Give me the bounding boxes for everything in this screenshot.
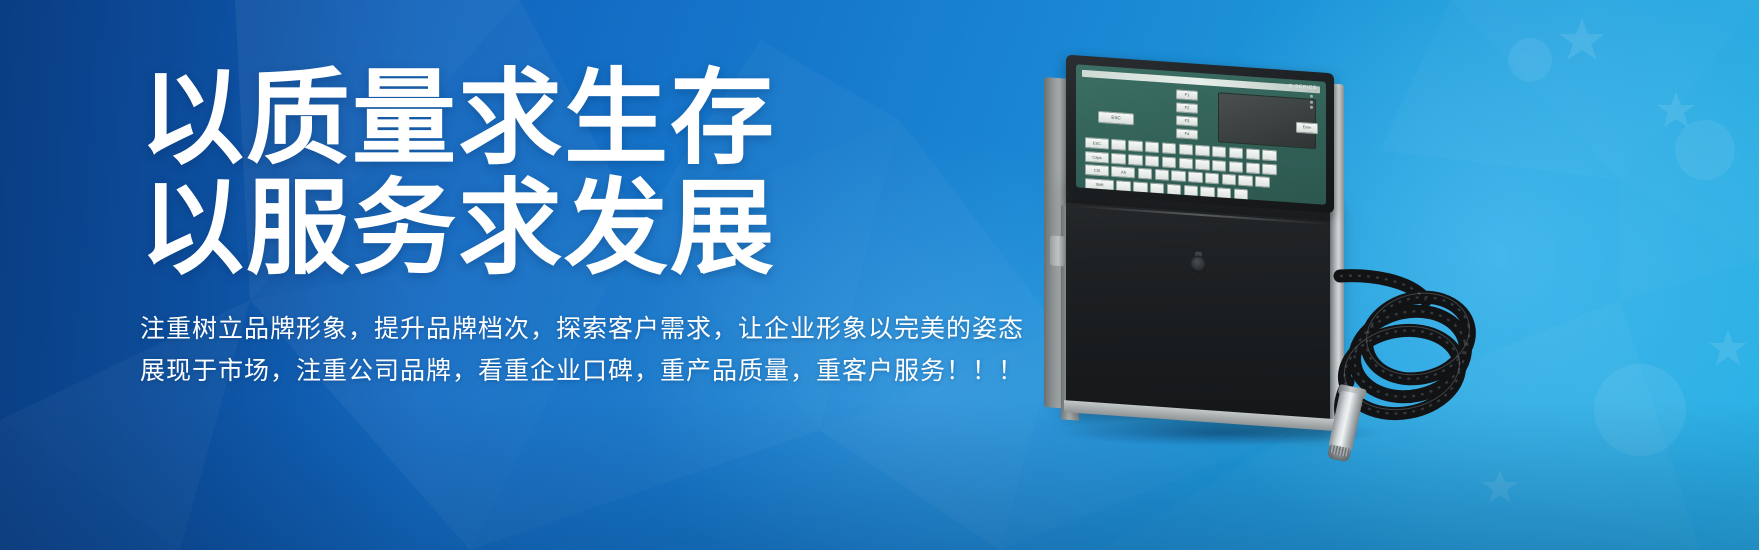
subcopy-line-1: 注重树立品牌形象，提升品牌档次，探索客户需求，让企业形象以完美的姿态 (140, 308, 1040, 350)
promo-banner: 以质量求生存 以服务求发展 注重树立品牌形象，提升品牌档次，探索客户需求，让企业… (0, 0, 1759, 550)
conduit-cable (1018, 38, 1578, 488)
subcopy-line-2: 展现于市场，注重公司品牌，看重企业口碑，重产品质量，重客户服务！！！ (140, 350, 1040, 392)
headline-line-2: 以服务求发展 (140, 176, 1040, 282)
inkjet-printer-image: G SERIES F1 F2 F3 F4 ESC Enter ESC (1018, 38, 1578, 488)
headline-line-1: 以质量求生存 (140, 66, 1040, 172)
banner-subcopy: 注重树立品牌形象，提升品牌档次，探索客户需求，让企业形象以完美的姿态 展现于市场… (140, 308, 1040, 392)
banner-copy: 以质量求生存 以服务求发展 注重树立品牌形象，提升品牌档次，探索客户需求，让企业… (140, 66, 1040, 392)
